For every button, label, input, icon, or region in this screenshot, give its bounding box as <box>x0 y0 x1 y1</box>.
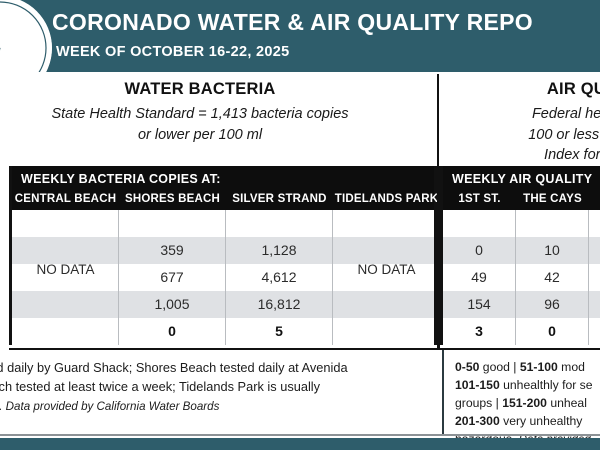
cell-shores-beach: 0 <box>119 318 226 345</box>
bottom-accent-bar <box>0 438 600 450</box>
aqi-label-very-unhealthy: very unhealthy <box>500 414 583 428</box>
section-captions: WATER BACTERIA State Health Standard = 1… <box>0 72 600 166</box>
aqi-label-good: good | <box>479 360 519 374</box>
water-bacteria-table: WEEKLY BACTERIA COPIES AT: CENTRAL BEACH… <box>9 166 437 345</box>
cell-central-beach <box>12 318 119 345</box>
column-header-silver-strand: SILVER STRAND <box>226 193 333 205</box>
aqi-scale-line-3: groups | 151-200 unheal <box>455 394 593 412</box>
cell-central-beach <box>12 210 119 237</box>
cell-shores-beach: 1,005 <box>119 291 226 318</box>
header-text-group: CORONADO WATER & AIR QUALITY REPO WEEK O… <box>52 10 533 60</box>
cell-first-street: 3 <box>443 318 516 345</box>
aqi-range-101-150: 101-150 <box>455 378 500 392</box>
air-table-column-row: 1ST ST. THE CAYS TH <box>443 193 600 205</box>
column-header-the-cays: THE CAYS <box>516 193 589 205</box>
water-caption-block: WATER BACTERIA State Health Standard = 1… <box>0 80 430 145</box>
air-table-header: WEEKLY AIR QUALITY 1ST ST. THE CAYS TH <box>443 166 600 210</box>
cell-the-cays <box>516 210 589 237</box>
water-standard-line-1: State Health Standard = 1,413 bacteria c… <box>0 105 430 125</box>
cell-third-column <box>589 237 600 264</box>
column-header-central-beach: CENTRAL BEACH <box>12 193 119 205</box>
footnote-vertical-divider <box>442 350 444 435</box>
page-title: CORONADO WATER & AIR QUALITY REPO <box>52 10 533 35</box>
cell-tidelands-park <box>333 318 440 345</box>
water-table-bottom-rule <box>9 348 437 350</box>
aqi-scale-line-1: 0-50 good | 51-100 mod <box>455 358 593 376</box>
report-week-subtitle: WEEK OF OCTOBER 16-22, 2025 <box>56 44 533 60</box>
aqi-range-201-300: 201-300 <box>455 414 500 428</box>
cell-silver-strand: 4,612 <box>226 264 333 291</box>
aqi-label-moderate: mod <box>558 360 585 374</box>
caption-vertical-divider <box>437 74 439 166</box>
no-data-label-tidelands-park: NO DATA <box>333 262 440 277</box>
water-standard-line-2: or lower per 100 ml <box>0 126 430 146</box>
report-header: CORONADO WATER & AIR QUALITY REPO WEEK O… <box>0 0 600 72</box>
air-table-body: 0 10 49 42 154 96 3 0 <box>443 210 600 345</box>
cell-silver-strand <box>226 210 333 237</box>
cell-shores-beach: 677 <box>119 264 226 291</box>
table-row: 1,005 16,812 <box>12 291 434 318</box>
column-header-tidelands-park: TIDELANDS PARK <box>333 193 440 205</box>
cell-silver-strand: 16,812 <box>226 291 333 318</box>
aqi-range-151-200: 151-200 <box>502 396 547 410</box>
table-row: 3 0 <box>443 318 600 345</box>
cell-the-cays: 0 <box>516 318 589 345</box>
table-row: 359 1,128 <box>12 237 434 264</box>
report-page: CORONADO WATER & AIR QUALITY REPO WEEK O… <box>0 0 600 450</box>
footer-horizontal-rule <box>0 434 600 436</box>
cell-tidelands-park <box>333 210 440 237</box>
cell-central-beach <box>12 291 119 318</box>
water-footnote-line-3: a week. Data provided by California Wate… <box>0 396 348 415</box>
cell-third-column <box>589 210 600 237</box>
air-table-bottom-rule <box>440 348 600 350</box>
cell-shores-beach: 359 <box>119 237 226 264</box>
water-data-source: Data provided by California Water Boards <box>6 400 220 413</box>
aqi-label-unhealthy-sensitive: unhealthly for se <box>500 378 593 392</box>
column-header-third-truncated: TH <box>589 193 600 205</box>
cell-first-street: 154 <box>443 291 516 318</box>
air-table-group-header: WEEKLY AIR QUALITY <box>443 172 600 186</box>
table-vertical-divider <box>437 166 440 350</box>
table-row <box>12 210 434 237</box>
cell-central-beach <box>12 237 119 264</box>
aqi-range-51-100: 51-100 <box>520 360 558 374</box>
cell-first-street <box>443 210 516 237</box>
column-header-shores-beach: SHORES BEACH <box>119 193 226 205</box>
city-seal-icon <box>0 0 52 72</box>
cell-third-column <box>589 318 600 345</box>
table-row: 49 42 <box>443 264 600 291</box>
cell-the-cays: 42 <box>516 264 589 291</box>
aqi-scale-line-4: 201-300 very unhealthy <box>455 412 593 430</box>
cell-first-street: 0 <box>443 237 516 264</box>
cell-first-street: 49 <box>443 264 516 291</box>
water-table-column-row: CENTRAL BEACH SHORES BEACH SILVER STRAND… <box>12 193 434 205</box>
air-caption-block: AIR QUALI Federal health sta 100 or less… <box>445 80 600 166</box>
water-table-group-header: WEEKLY BACTERIA COPIES AT: <box>12 172 434 186</box>
cell-third-column <box>589 264 600 291</box>
water-section-title: WATER BACTERIA <box>0 80 430 99</box>
water-table-body: 359 1,128 677 4,612 1,005 16,812 0 5 <box>12 210 434 345</box>
table-row: 0 10 <box>443 237 600 264</box>
air-standard-line-1: Federal health sta <box>445 105 600 125</box>
table-row: 0 5 <box>12 318 434 345</box>
water-table-header: WEEKLY BACTERIA COPIES AT: CENTRAL BEACH… <box>12 166 434 210</box>
cell-the-cays: 96 <box>516 291 589 318</box>
cell-third-column <box>589 291 600 318</box>
air-section-title: AIR QUALI <box>445 80 600 99</box>
cell-silver-strand: 1,128 <box>226 237 333 264</box>
no-data-label-central-beach: NO DATA <box>12 262 119 277</box>
air-standard-line-2: 100 or less Air Qua <box>445 126 600 146</box>
aqi-label-unhealthy: unheal <box>547 396 587 410</box>
table-row: 154 96 <box>443 291 600 318</box>
water-footnote: d tested daily by Guard Shack; Shores Be… <box>0 358 348 416</box>
cell-the-cays: 10 <box>516 237 589 264</box>
cell-tidelands-park <box>333 291 440 318</box>
column-header-first-street: 1ST ST. <box>443 193 516 205</box>
aqi-range-0-50: 0-50 <box>455 360 479 374</box>
table-row <box>443 210 600 237</box>
aqi-scale-line-2: 101-150 unhealthly for se <box>455 376 593 394</box>
water-footnote-line-2: ral Beach tested at least twice a week; … <box>0 377 348 396</box>
water-footnote-line-1: d tested daily by Guard Shack; Shores Be… <box>0 358 348 377</box>
cell-silver-strand: 5 <box>226 318 333 345</box>
cell-tidelands-park <box>333 237 440 264</box>
cell-shores-beach <box>119 210 226 237</box>
air-standard-line-3: Index for healt <box>445 146 600 166</box>
air-quality-table: WEEKLY AIR QUALITY 1ST ST. THE CAYS TH 0… <box>440 166 600 345</box>
aqi-label-groups: groups | <box>455 396 502 410</box>
